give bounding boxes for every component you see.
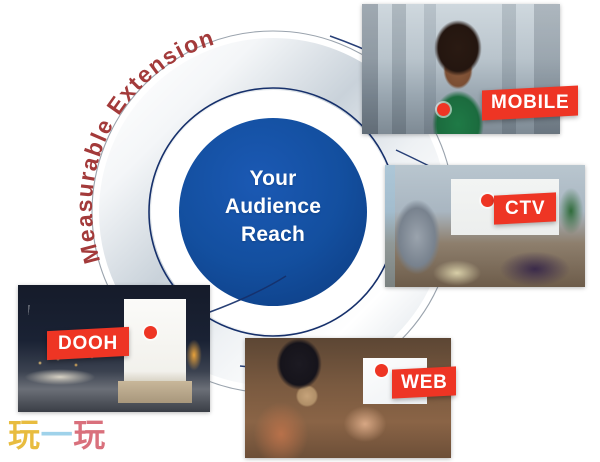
channel-image-ctv [385,165,585,287]
channel-label-web-text: WEB [401,372,448,394]
audience-reach-diagram: Measurable Extension Your Audience Reach… [0,0,600,462]
channel-label-ctv: CTV [494,192,556,224]
watermark-char-2: 一 [41,416,74,454]
web-photo [245,338,451,458]
connector-dot-web [375,364,388,377]
connector-dot-ctv [481,194,494,207]
connector-dot-dooh [144,326,157,339]
watermark-char-3: 玩 [73,416,106,454]
watermark: 玩一玩 [8,419,106,451]
center-circle [179,118,367,306]
channel-image-web [245,338,451,458]
watermark-char-1: 玩 [8,416,41,454]
channel-label-web: WEB [392,366,456,398]
channel-label-mobile: MOBILE [482,85,578,120]
connector-dot-mobile [437,103,450,116]
ctv-photo [385,165,585,287]
channel-label-ctv-text: CTV [505,198,545,220]
channel-label-mobile-text: MOBILE [491,92,569,114]
channel-label-dooh-text: DOOH [58,333,118,355]
channel-label-dooh: DOOH [47,327,129,360]
